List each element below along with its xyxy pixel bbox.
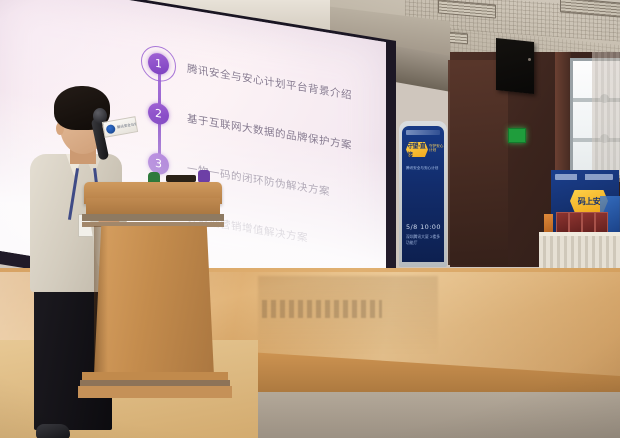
speaker-shoe bbox=[36, 424, 70, 438]
banner-description: 腾讯安全与安心计划 bbox=[406, 166, 442, 171]
banner-address: 深圳腾讯大厦 2楼多功能厅 bbox=[406, 234, 442, 245]
lectern-body bbox=[94, 226, 214, 376]
dark-object bbox=[166, 175, 196, 182]
microphone-flag-text: 腾讯安全与安心计划 bbox=[117, 122, 136, 129]
banner-top-logos bbox=[406, 130, 440, 135]
brand-logo-icon bbox=[105, 123, 115, 133]
agenda-number-badge: 1 bbox=[148, 52, 169, 76]
display-table-skirt bbox=[539, 236, 620, 272]
reflected-text-blur bbox=[262, 300, 382, 318]
conference-photo: 1 腾讯安全与安心计划平台背景介绍 2 基于互联网大数据的品牌保护方案 3 一物… bbox=[0, 0, 620, 438]
wall-speaker bbox=[496, 38, 534, 94]
banner-logo-subtext: 守护安心计划 bbox=[429, 145, 445, 154]
banner-logo-text: 守望·直接 bbox=[407, 144, 427, 155]
lectern-base bbox=[78, 386, 232, 398]
product-can bbox=[544, 214, 553, 234]
wall-speaker-mount bbox=[528, 58, 531, 61]
backdrop-sponsor-logos bbox=[555, 174, 613, 180]
exit-sign bbox=[508, 128, 526, 143]
lectern-shadow-edge bbox=[94, 226, 108, 376]
back-wall-panel bbox=[448, 60, 508, 265]
lectern-trim-band bbox=[82, 214, 224, 221]
window-curtain bbox=[592, 52, 620, 182]
banner-time: 5/8 10:00 bbox=[406, 223, 441, 231]
